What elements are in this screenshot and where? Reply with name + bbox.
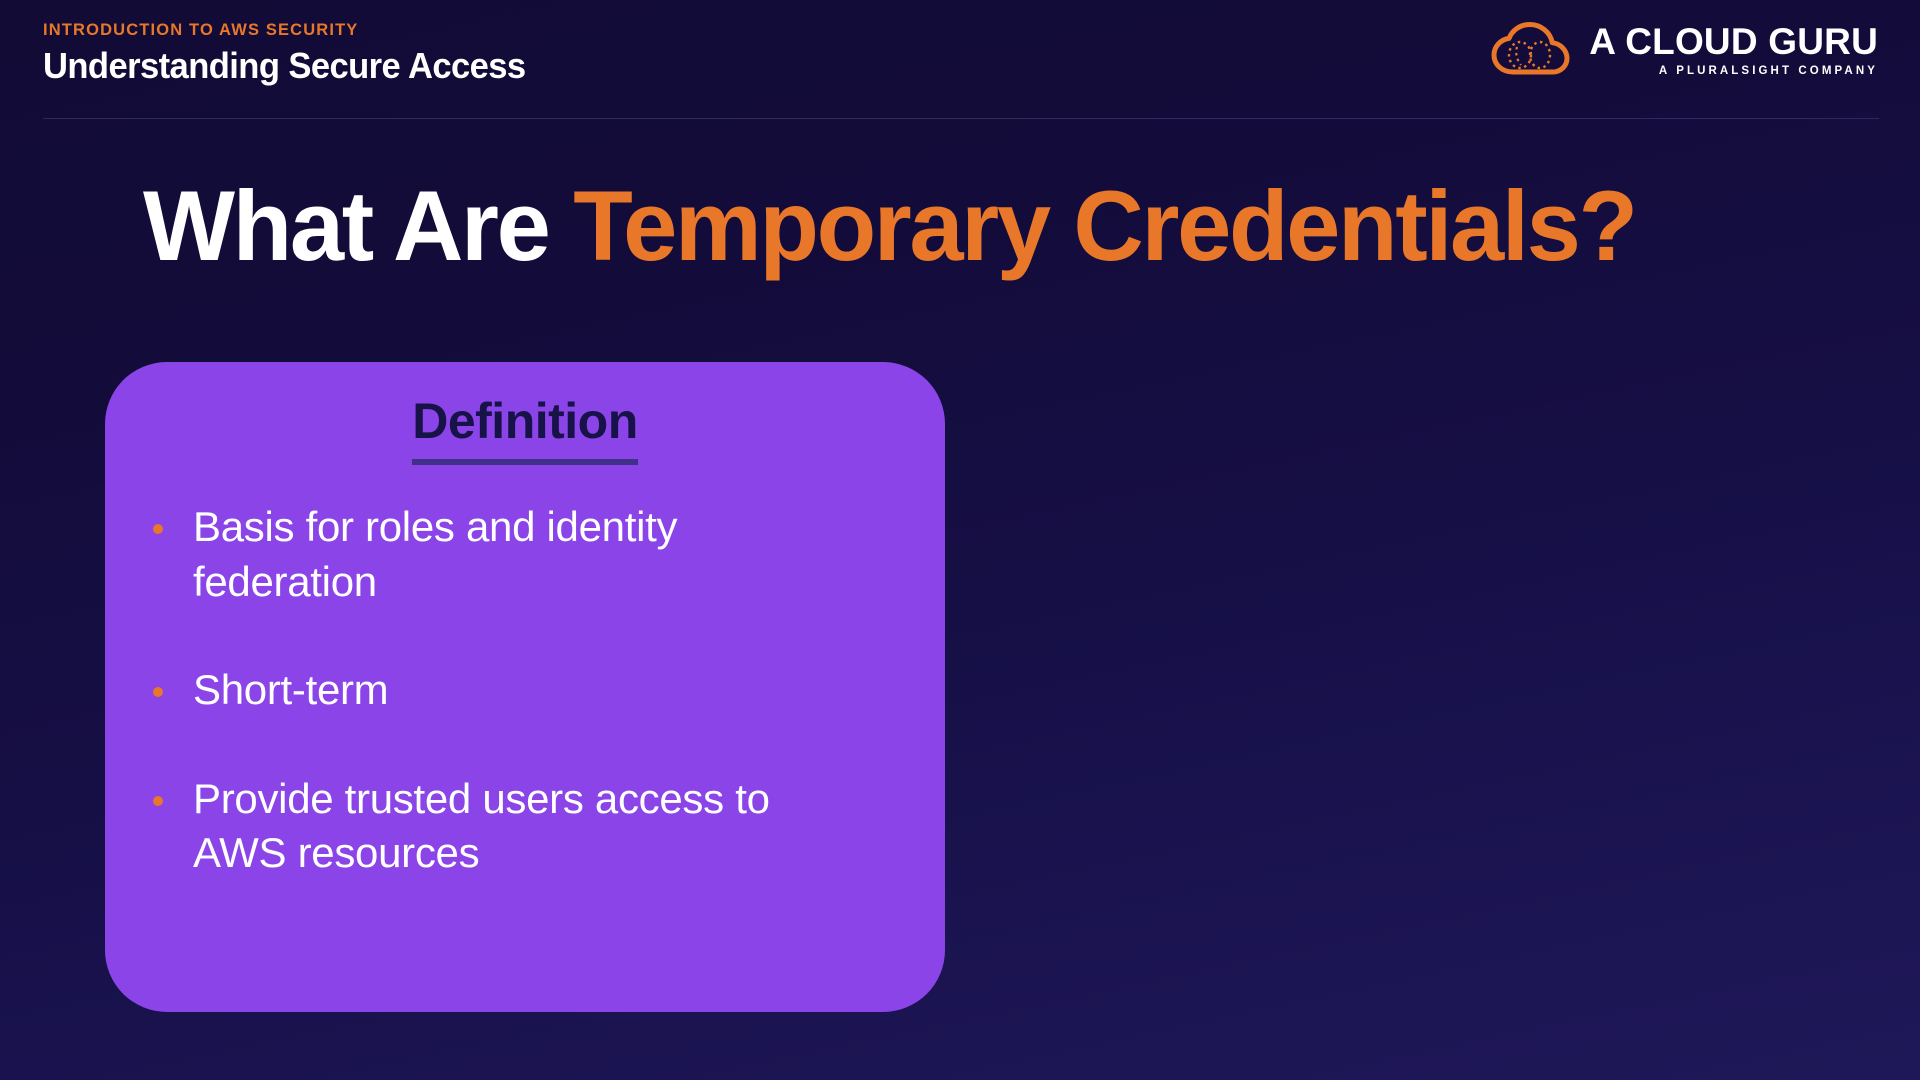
slide-title: What Are Temporary Credentials? [143,176,1636,275]
header-divider [43,118,1879,119]
list-item-label: Basis for roles and identity federation [193,500,833,609]
slide-header: INTRODUCTION TO AWS SECURITY Understandi… [0,0,1920,119]
header-title-group: INTRODUCTION TO AWS SECURITY Understandi… [43,22,546,84]
cloud-icon [1491,22,1571,78]
list-item: Short-term [153,663,909,718]
presentation-slide: INTRODUCTION TO AWS SECURITY Understandi… [0,0,1920,1080]
slide-title-plain-part: What Are [143,170,573,281]
logo-text-block: A CLOUD GURU A PLURALSIGHT COMPANY [1589,23,1878,78]
course-title: Understanding Secure Access [43,48,526,84]
list-item-label: Short-term [193,663,388,718]
definition-card: Definition Basis for roles and identity … [105,362,945,1012]
definition-heading: Definition [105,396,945,446]
bullet-dot-icon [153,524,163,534]
logo-tagline: A PLURALSIGHT COMPANY [1659,66,1878,78]
list-item: Provide trusted users access to AWS reso… [153,772,909,881]
slide-title-accent-part: Temporary Credentials? [573,170,1636,281]
list-item-label: Provide trusted users access to AWS reso… [193,772,833,881]
definition-bullet-list: Basis for roles and identity federation … [153,500,909,881]
bullet-dot-icon [153,687,163,697]
course-eyebrow-label: INTRODUCTION TO AWS SECURITY [43,22,546,39]
list-item: Basis for roles and identity federation [153,500,909,609]
definition-heading-text: Definition [412,393,638,465]
bullet-dot-icon [153,796,163,806]
logo-wordmark: A CLOUD GURU [1589,23,1878,60]
a-cloud-guru-logo: A CLOUD GURU A PLURALSIGHT COMPANY [1491,22,1878,78]
